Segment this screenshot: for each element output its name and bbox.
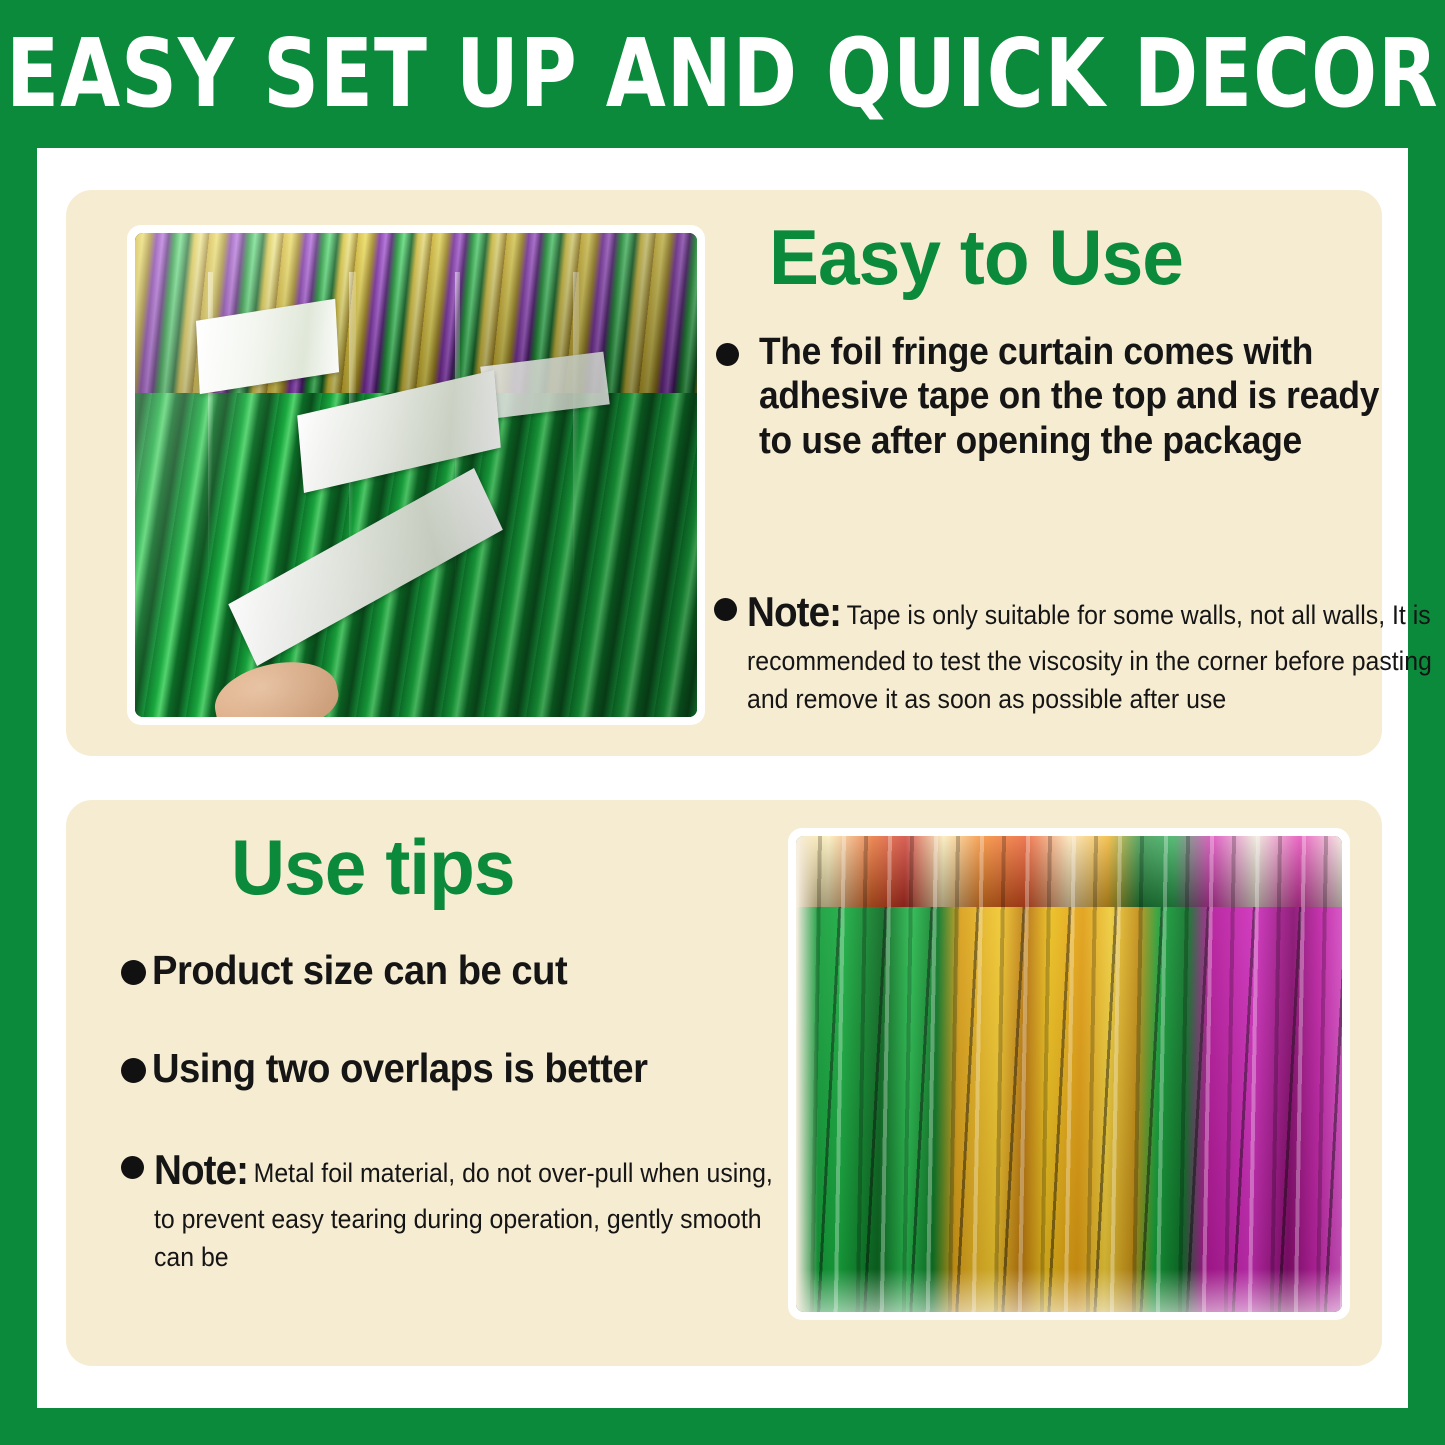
list-item-tip: Using two overlaps is better — [121, 1046, 685, 1091]
bullet-dot-icon — [121, 1156, 144, 1179]
note-label: Note: — [747, 588, 841, 635]
bullet-dot-icon — [716, 343, 739, 366]
note-easy-to-use-body: Note:Tape is only suitable for some wall… — [747, 582, 1445, 718]
product-photo-tape — [135, 233, 697, 717]
photo-left-edge-fade — [796, 836, 818, 1312]
list-item-tip: Product size can be cut — [121, 948, 598, 993]
note-use-tips: Note:Metal foil material, do not over-pu… — [121, 1140, 844, 1276]
bullet-dot-icon — [714, 598, 737, 621]
panel-use-tips: Use tips Product size can be cut Using t… — [66, 800, 1382, 1366]
poster-root: EASY SET UP AND QUICK DECOR — [0, 0, 1445, 1445]
bullet-dot-icon — [121, 1058, 146, 1083]
photo-gloss-overlay — [796, 836, 1342, 1312]
photo-bottom-fade — [796, 1269, 1342, 1312]
photo-frame-use-tips — [788, 828, 1350, 1320]
content-sheet: Easy to Use The foil fringe curtain come… — [37, 148, 1408, 1408]
bullet-easy-to-use: The foil fringe curtain comes with adhes… — [716, 330, 1436, 463]
note-label: Note: — [154, 1146, 248, 1193]
bullet-dot-icon — [121, 960, 146, 985]
tip-text: Product size can be cut — [152, 948, 567, 993]
product-photo-fringe — [796, 836, 1342, 1312]
note-easy-to-use: Note:Tape is only suitable for some wall… — [714, 582, 1445, 718]
note-use-tips-body: Note:Metal foil material, do not over-pu… — [154, 1140, 789, 1276]
tip-text: Using two overlaps is better — [152, 1046, 648, 1091]
title-banner: EASY SET UP AND QUICK DECOR — [0, 0, 1445, 148]
page-title: EASY SET UP AND QUICK DECOR — [6, 27, 1439, 121]
note-easy-to-use-text: Tape is only suitable for some walls, no… — [747, 600, 1432, 714]
photo-gloss-overlay — [135, 233, 697, 717]
bullet-easy-to-use-text: The foil fringe curtain comes with adhes… — [759, 330, 1389, 463]
heading-use-tips: Use tips — [231, 828, 515, 906]
heading-easy-to-use: Easy to Use — [769, 218, 1183, 296]
photo-frame-easy-to-use — [127, 225, 705, 725]
panel-easy-to-use: Easy to Use The foil fringe curtain come… — [66, 190, 1382, 756]
